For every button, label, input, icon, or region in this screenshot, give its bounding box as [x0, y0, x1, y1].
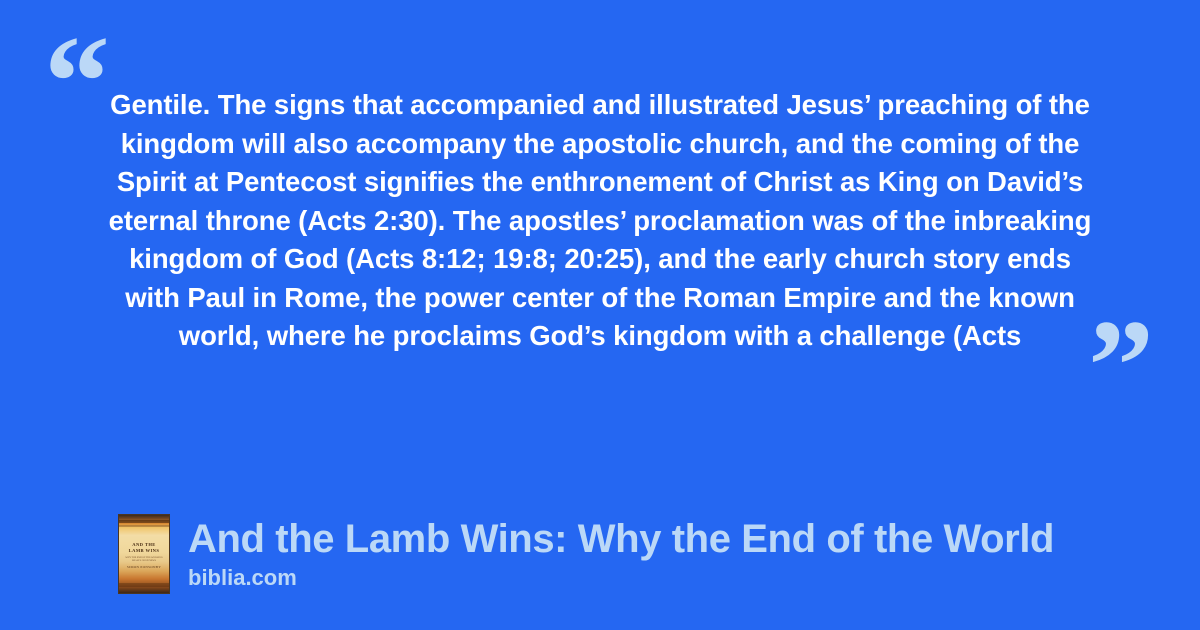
- cover-band: [119, 583, 169, 587]
- book-cover-thumbnail: AND THE LAMB WINS WHY THE END OF THE WOR…: [118, 514, 170, 594]
- quote-card: “ ” Gentile. The signs that accompanied …: [0, 0, 1200, 630]
- footer: AND THE LAMB WINS WHY THE END OF THE WOR…: [118, 514, 1054, 594]
- opening-quote-icon: “: [44, 16, 108, 148]
- site-name: biblia.com: [188, 564, 1054, 592]
- cover-subtitle: WHY THE END OF THE WORLD IS REALLY GOOD …: [123, 556, 165, 563]
- footer-text-group: And the Lamb Wins: Why the End of the Wo…: [188, 514, 1054, 592]
- cover-title-line-2: LAMB WINS: [119, 548, 169, 554]
- cover-title-line-1: AND THE: [119, 542, 169, 548]
- closing-quote-icon: ”: [1088, 300, 1152, 432]
- cover-author: SIMON PONSONBY: [119, 565, 169, 569]
- cover-band: [119, 520, 169, 523]
- cover-band: [119, 525, 169, 527]
- quote-text: Gentile. The signs that accompanied and …: [108, 86, 1092, 356]
- book-title: And the Lamb Wins: Why the End of the Wo…: [188, 516, 1054, 562]
